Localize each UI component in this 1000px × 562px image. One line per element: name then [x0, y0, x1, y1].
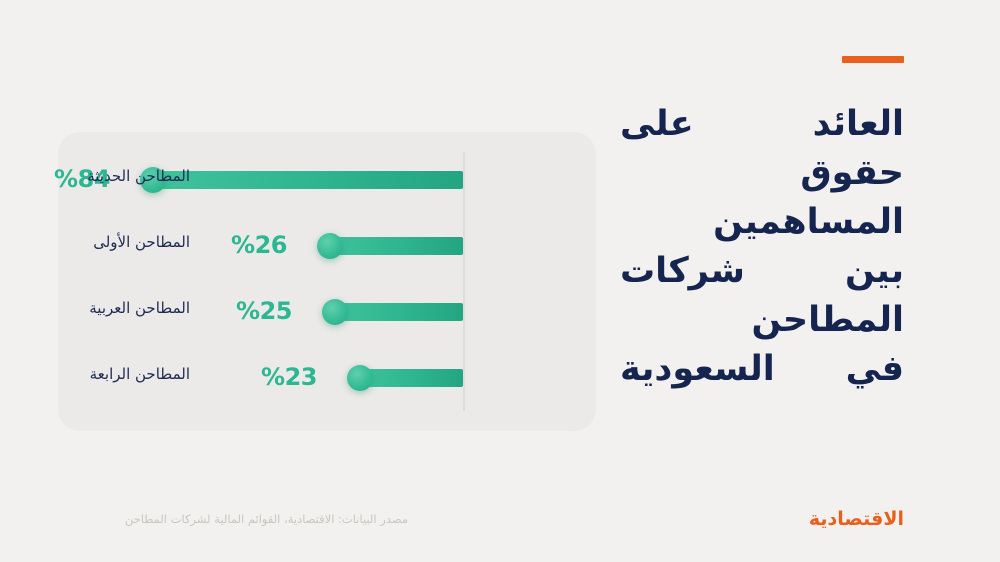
chart-row: %26 المطاحن الأولى — [58, 228, 596, 262]
bar-knob-icon — [322, 299, 348, 325]
orange-accent-rule-icon — [842, 56, 904, 63]
bar-category-label: المطاحن الحديثة — [70, 167, 190, 185]
bar-track — [360, 369, 463, 387]
page-title-line: العائد على — [620, 100, 904, 149]
infographic-canvas: %84 المطاحن الحديثة %26 المطاحن الأولى %… — [0, 0, 1000, 562]
bar-value-label: %23 — [261, 363, 317, 391]
page-title-line: في السعودية — [620, 345, 904, 394]
page-title: العائد على حقوق المساهمين بين شركات المط… — [620, 100, 904, 394]
bar-knob-icon — [347, 365, 373, 391]
page-title-line: المساهمين — [620, 198, 904, 247]
brand-logo: الاقتصادية — [842, 508, 904, 530]
chart-row: %84 المطاحن الحديثة — [58, 162, 596, 196]
bar-category-label: المطاحن الأولى — [70, 233, 190, 251]
bar-value-label: %25 — [236, 297, 292, 325]
title-column: العائد على حقوق المساهمين بين شركات المط… — [620, 0, 920, 562]
bar-track — [330, 237, 463, 255]
data-source-note: مصدر البيانات: الاقتصادية، القوائم المال… — [48, 512, 408, 526]
chart-row: %23 المطاحن الرابعة — [58, 360, 596, 394]
page-title-line: المطاحن — [620, 296, 904, 345]
bar-value-label: %26 — [231, 231, 287, 259]
bar-knob-icon — [317, 233, 343, 259]
chart-row: %25 المطاحن العربية — [58, 294, 596, 328]
bar-track — [335, 303, 463, 321]
page-title-line: حقوق — [620, 149, 904, 198]
bar-track — [153, 171, 463, 189]
page-title-line: بين شركات — [620, 247, 904, 296]
bar-category-label: المطاحن العربية — [70, 299, 190, 317]
chart-panel: %84 المطاحن الحديثة %26 المطاحن الأولى %… — [58, 132, 596, 431]
bar-category-label: المطاحن الرابعة — [70, 365, 190, 383]
